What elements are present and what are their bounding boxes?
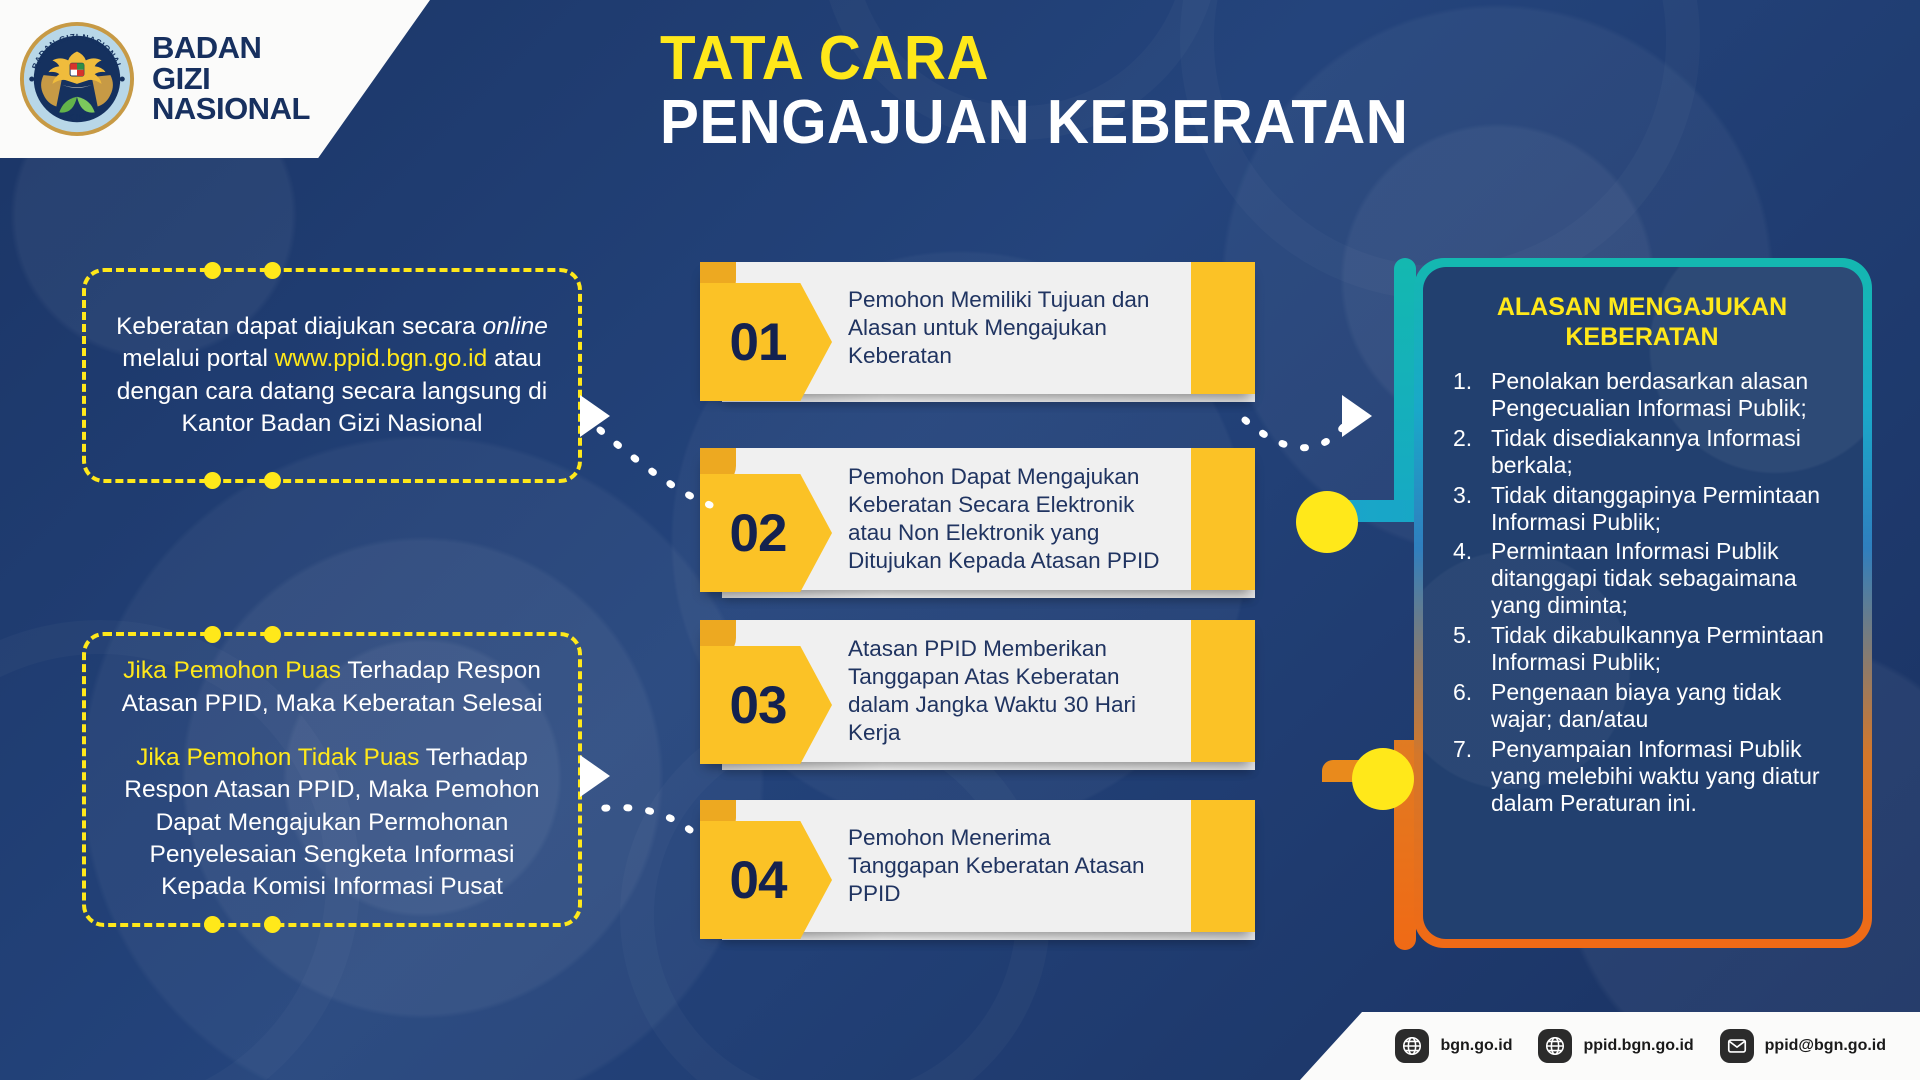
arrow-marker-reasons bbox=[1342, 395, 1372, 437]
reason-panel: ALASAN MENGAJUKAN KEBERATAN Penolakan be… bbox=[1414, 258, 1872, 948]
reason-item: Tidak disediakannya Informasi berkala; bbox=[1445, 425, 1839, 479]
dash-dot bbox=[204, 262, 221, 279]
dash-dot bbox=[264, 916, 281, 933]
card-accent-bar bbox=[1191, 800, 1255, 932]
envelope-icon bbox=[1720, 1029, 1754, 1063]
step-card-04: 04 Pemohon Menerima Tanggapan Keberatan … bbox=[700, 800, 1255, 940]
card-accent-bar bbox=[1191, 262, 1255, 394]
footer-label: bgn.go.id bbox=[1440, 1037, 1512, 1055]
step-card-body: 02 Pemohon Dapat Mengajukan Keberatan Se… bbox=[700, 448, 1255, 590]
bgn-seal-logo: BADAN GIZI NASIONAL REPUBLIK INDONESIA bbox=[18, 20, 136, 138]
footer-item-email[interactable]: ppid@bgn.go.id bbox=[1720, 1029, 1886, 1063]
dotted-arrow-to-reasons bbox=[1245, 410, 1355, 448]
step-card-body: 03 Atasan PPID Memberikan Tanggapan Atas… bbox=[700, 620, 1255, 762]
reason-item: Pengenaan biaya yang tidak wajar; dan/at… bbox=[1445, 679, 1839, 733]
reason-item: Penyampaian Informasi Publik yang melebi… bbox=[1445, 736, 1839, 817]
footer-item-website[interactable]: bgn.go.id bbox=[1395, 1029, 1512, 1063]
brand-line-3: NASIONAL bbox=[152, 94, 310, 124]
card-shadow-bar bbox=[722, 590, 1255, 598]
note-online-submission: Keberatan dapat diajukan secara online m… bbox=[82, 268, 582, 483]
arrow-marker-note2 bbox=[580, 755, 610, 797]
note-outcome-satisfied: Jika Pemohon Puas Terhadap Respon Atasan… bbox=[106, 655, 558, 720]
step-number: 04 bbox=[730, 850, 787, 911]
connector-knob-top bbox=[1296, 491, 1358, 553]
reason-item: Tidak dikabulkannya Permintaan Informasi… bbox=[1445, 622, 1839, 676]
title-line-2: PENGAJUAN KEBERATAN bbox=[660, 90, 1408, 155]
step-text: Pemohon Memiliki Tujuan dan Alasan untuk… bbox=[848, 276, 1163, 380]
step-card-body: 04 Pemohon Menerima Tanggapan Keberatan … bbox=[700, 800, 1255, 932]
step-number-tab: 02 bbox=[700, 474, 832, 592]
dash-dot bbox=[264, 472, 281, 489]
infographic-canvas: BADAN GIZI NASIONAL REPUBLIK INDONESIA bbox=[0, 0, 1920, 1080]
step-card-body: 01 Pemohon Memiliki Tujuan dan Alasan un… bbox=[700, 262, 1255, 394]
globe-icon bbox=[1395, 1029, 1429, 1063]
footer-label: ppid.bgn.go.id bbox=[1583, 1037, 1693, 1055]
footer-label: ppid@bgn.go.id bbox=[1765, 1037, 1886, 1055]
ppid-portal-url: www.ppid.bgn.go.id bbox=[275, 345, 487, 372]
note-online-text: Keberatan dapat diajukan secara online m… bbox=[106, 311, 558, 440]
reason-panel-inner: ALASAN MENGAJUKAN KEBERATAN Penolakan be… bbox=[1423, 267, 1863, 939]
dash-dot bbox=[264, 262, 281, 279]
step-number: 01 bbox=[730, 312, 787, 373]
card-accent-bar bbox=[1191, 448, 1255, 590]
satisfied-highlight: Jika Pemohon Puas bbox=[123, 657, 341, 684]
reason-list: Penolakan berdasarkan alasan Pengecualia… bbox=[1445, 368, 1839, 817]
reason-item: Penolakan berdasarkan alasan Pengecualia… bbox=[1445, 368, 1839, 422]
connector-pipe-top bbox=[1394, 258, 1416, 518]
footer-item-ppid[interactable]: ppid.bgn.go.id bbox=[1538, 1029, 1693, 1063]
step-card-03: 03 Atasan PPID Memberikan Tanggapan Atas… bbox=[700, 620, 1255, 770]
note-outcome-unsatisfied: Jika Pemohon Tidak Puas Terhadap Respon … bbox=[106, 742, 558, 904]
dash-dot bbox=[204, 472, 221, 489]
reason-item: Permintaan Informasi Publik ditanggapi t… bbox=[1445, 538, 1839, 619]
step-text: Pemohon Menerima Tanggapan Keberatan Ata… bbox=[848, 814, 1163, 918]
brand-line-1: BADAN bbox=[152, 33, 310, 63]
dash-dot bbox=[264, 626, 281, 643]
step-number-tab: 03 bbox=[700, 646, 832, 764]
footer-contact-bar: bgn.go.id ppid.bgn.go.id ppid@bgn.go.id bbox=[1300, 1012, 1920, 1080]
globe-icon bbox=[1538, 1029, 1572, 1063]
card-shadow-bar bbox=[722, 762, 1255, 770]
brand-panel: BADAN GIZI NASIONAL REPUBLIK INDONESIA bbox=[0, 0, 430, 158]
step-number: 03 bbox=[730, 675, 787, 736]
note-outcome: Jika Pemohon Puas Terhadap Respon Atasan… bbox=[82, 632, 582, 927]
arrow-marker-note1 bbox=[580, 395, 610, 437]
step-number-tab: 04 bbox=[700, 821, 832, 939]
reason-panel-title: ALASAN MENGAJUKAN KEBERATAN bbox=[1445, 293, 1839, 352]
card-accent-bar bbox=[1191, 620, 1255, 762]
step-text: Atasan PPID Memberikan Tanggapan Atas Ke… bbox=[848, 625, 1163, 758]
reason-item: Tidak ditanggapinya Permintaan Informasi… bbox=[1445, 482, 1839, 536]
dash-dot bbox=[204, 916, 221, 933]
step-number: 02 bbox=[730, 503, 787, 564]
title-line-1: TATA CARA bbox=[660, 28, 1408, 90]
dash-dot bbox=[204, 626, 221, 643]
step-card-01: 01 Pemohon Memiliki Tujuan dan Alasan un… bbox=[700, 262, 1255, 402]
step-card-02: 02 Pemohon Dapat Mengajukan Keberatan Se… bbox=[700, 448, 1255, 598]
step-number-tab: 01 bbox=[700, 283, 832, 401]
unsatisfied-highlight: Jika Pemohon Tidak Puas bbox=[136, 744, 419, 771]
dotted-arrow-note1 bbox=[600, 430, 710, 505]
step-text: Pemohon Dapat Mengajukan Keberatan Secar… bbox=[848, 453, 1163, 586]
brand-line-2: GIZI bbox=[152, 64, 310, 94]
brand-wordmark: BADAN GIZI NASIONAL bbox=[152, 33, 310, 124]
connector-knob-bottom bbox=[1352, 748, 1414, 810]
page-title: TATA CARA PENGAJUAN KEBERATAN bbox=[660, 28, 1456, 155]
